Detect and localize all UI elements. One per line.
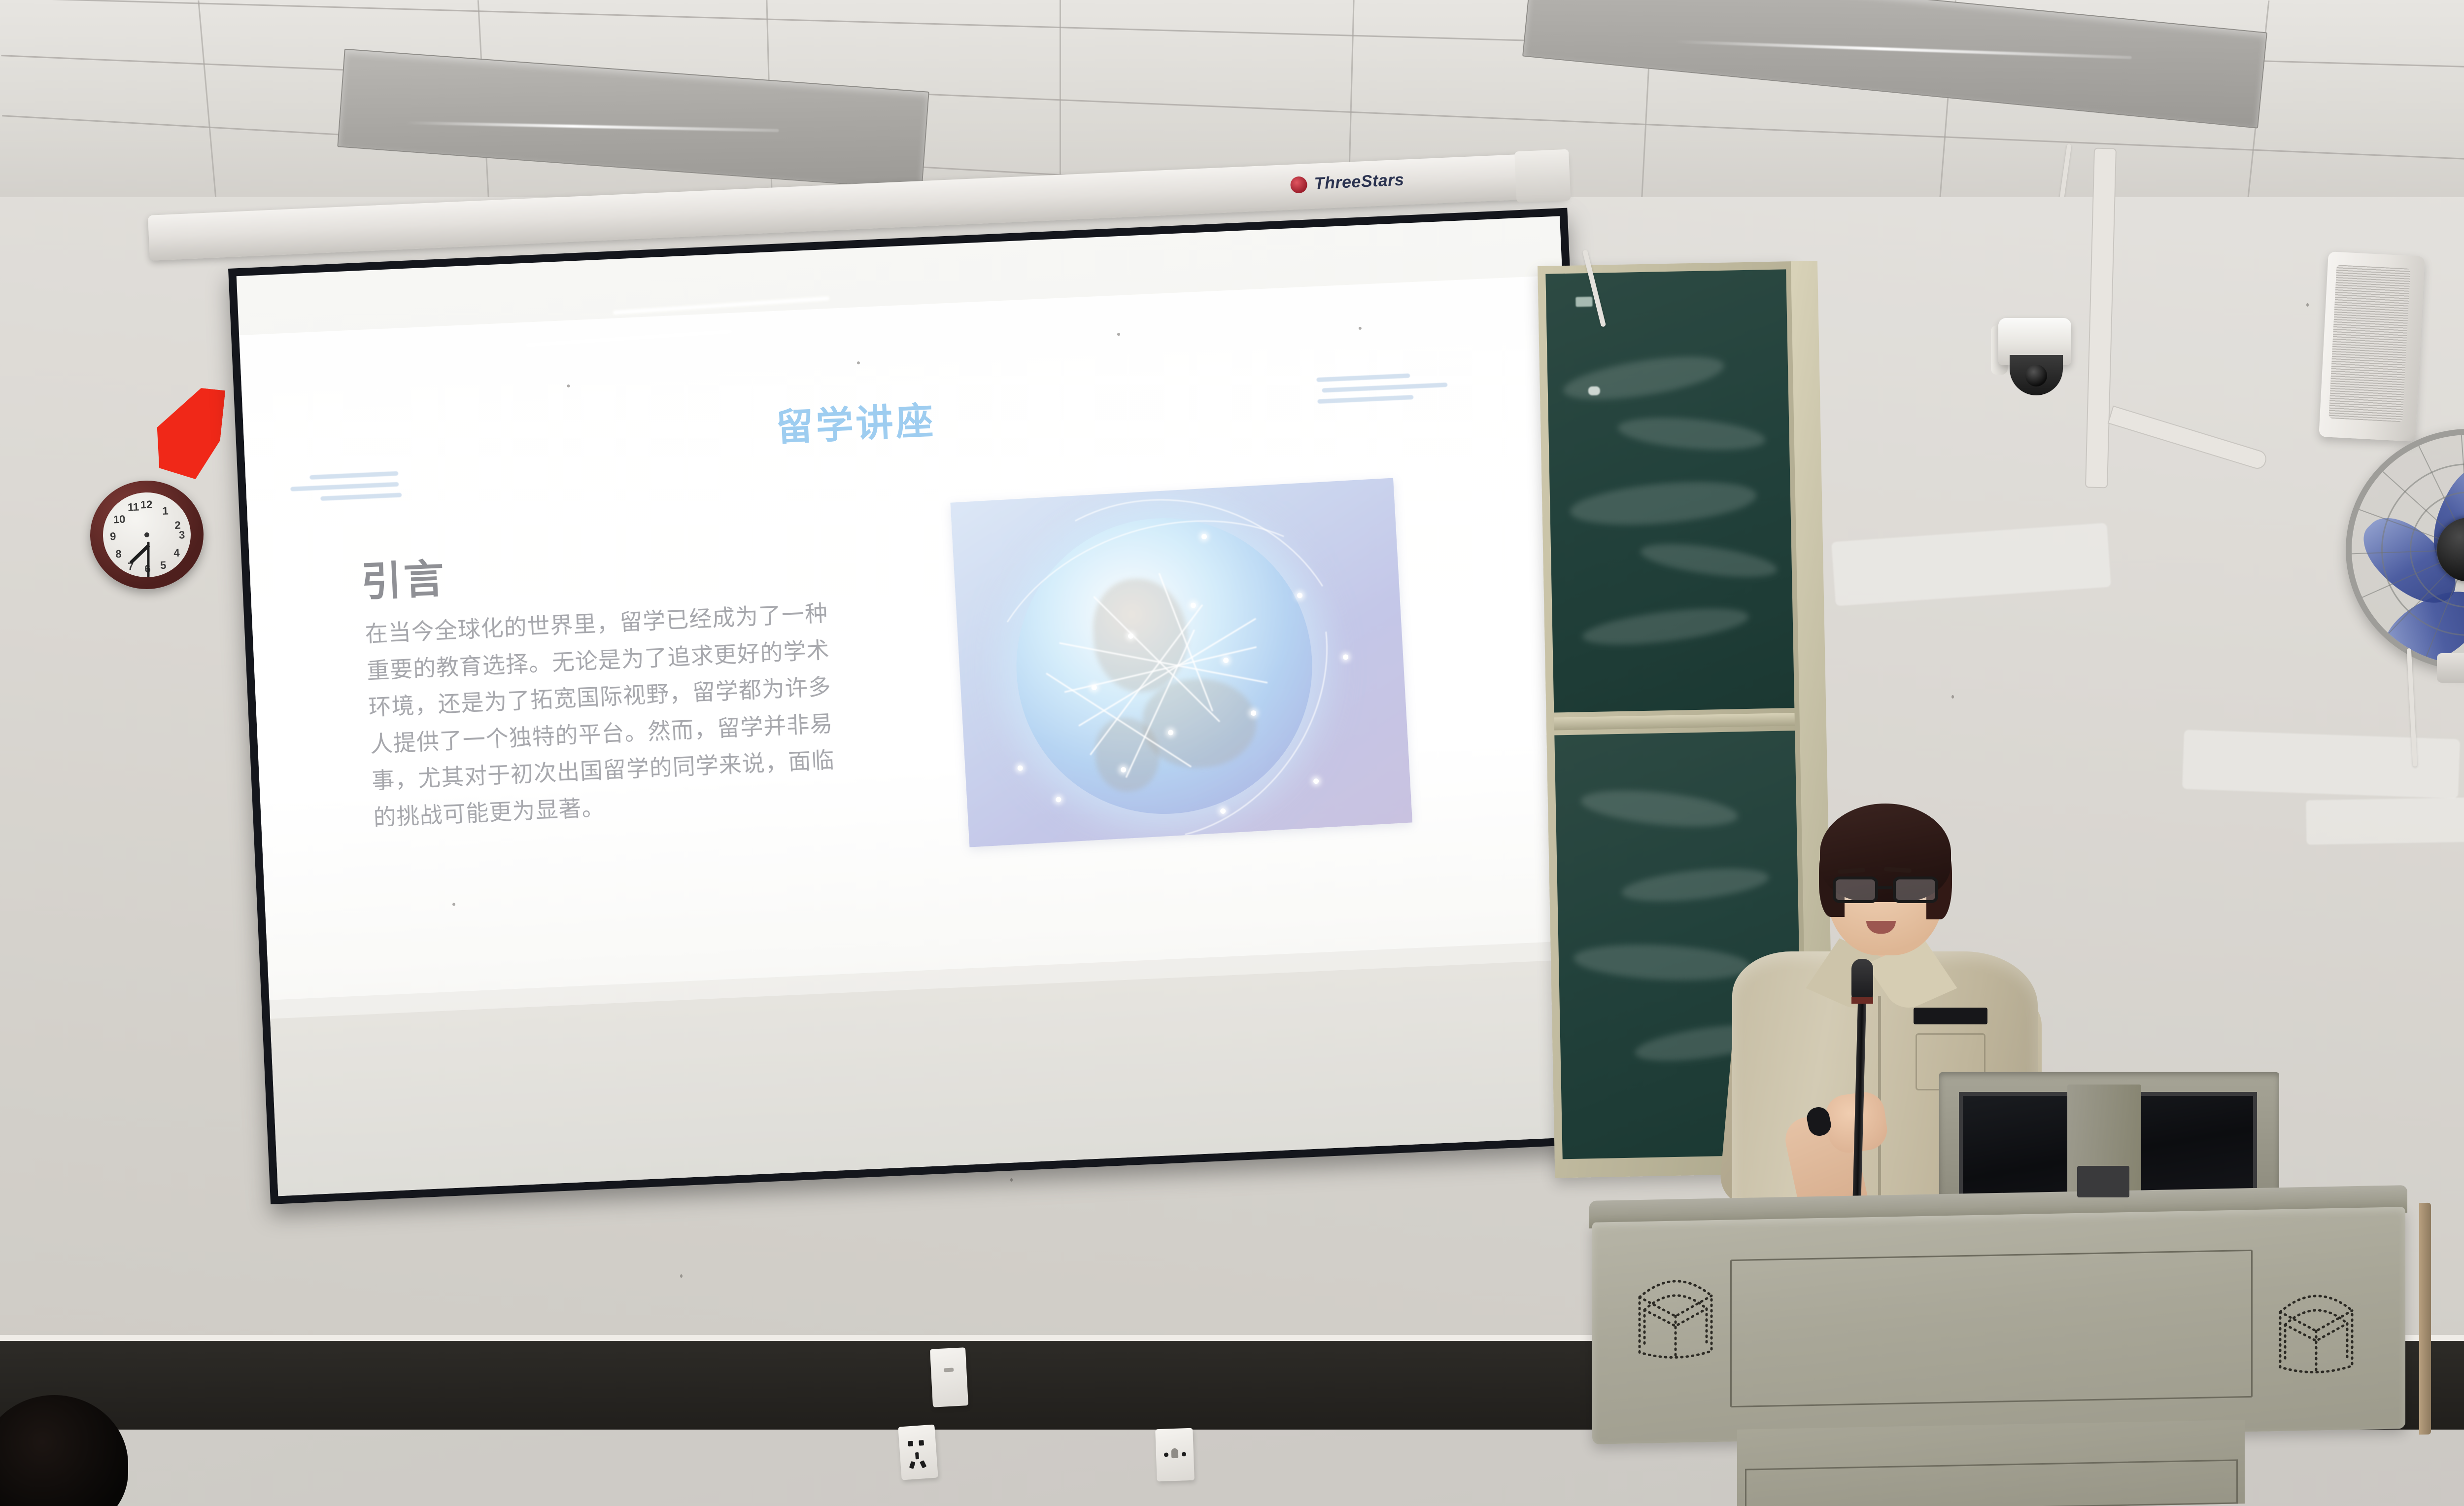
screen-housing-endcap xyxy=(1514,149,1571,203)
slide-heading: 引言 xyxy=(360,546,447,608)
clock-number-4: 4 xyxy=(173,547,180,560)
wall-conduit-vertical xyxy=(2085,148,2117,489)
clock-face: 12 1 2 3 4 5 6 7 8 9 10 11 xyxy=(102,491,192,579)
fan-cage xyxy=(2346,429,2464,670)
deco-line-1 xyxy=(1316,373,1410,382)
wall-fan-icon[interactable] xyxy=(2346,429,2464,675)
light-fixture-right xyxy=(1522,0,2267,129)
podium-vent-left xyxy=(1634,1261,1717,1361)
deco-line-3 xyxy=(320,493,402,501)
podium-vent-right xyxy=(2274,1276,2358,1376)
deco-line-3 xyxy=(1317,395,1413,404)
podium xyxy=(1589,1193,2427,1506)
blackboard-upper-panel xyxy=(1545,269,1794,712)
clock-number-10: 10 xyxy=(113,513,125,526)
clock-number-3: 3 xyxy=(179,528,185,541)
projection-surface: 留学讲座 引言 在当今全球化的世界里，留学已经成为了一种重要的教育选择。无论是为… xyxy=(237,216,1602,1196)
slide-decoration-top-right xyxy=(1316,372,1448,410)
screen-brand: ThreeStars xyxy=(1290,171,1404,195)
threestars-logo-icon xyxy=(1290,176,1307,193)
clock-number-12: 12 xyxy=(140,498,152,512)
slide: 留学讲座 引言 在当今全球化的世界里，留学已经成为了一种重要的教育选择。无论是为… xyxy=(256,316,1555,1019)
light-switch[interactable] xyxy=(930,1347,968,1407)
clock-minute-hand xyxy=(147,541,149,577)
light-fixture-left xyxy=(337,49,929,190)
slide-figure-globe-network xyxy=(950,478,1412,847)
blackboard-chalk-rail xyxy=(1554,713,1795,730)
clock-number-11: 11 xyxy=(128,501,139,514)
speaker-grille xyxy=(2328,265,2410,422)
classroom-scene: 12 1 2 3 4 5 6 7 8 9 10 11 ThreeStars xyxy=(0,0,2464,1506)
monitor-mount-plate xyxy=(2077,1166,2129,1197)
slide-title: 留学讲座 xyxy=(775,390,937,452)
wall-speaker-icon xyxy=(2319,251,2425,442)
projection-screen[interactable]: 留学讲座 引言 在当今全球化的世界里，留学已经成为了一种重要的教育选择。无论是为… xyxy=(228,208,1609,1204)
deco-line-1 xyxy=(309,471,398,480)
slide-decoration-left xyxy=(290,471,402,509)
podium-side-edge xyxy=(2419,1203,2431,1435)
camera-lens-icon xyxy=(2025,365,2047,386)
glasses-icon xyxy=(1833,876,1938,904)
presenter-badge xyxy=(1914,1008,1987,1024)
clock-number-8: 8 xyxy=(115,548,122,560)
power-outlet-right[interactable] xyxy=(1155,1428,1195,1482)
podium-front-panel xyxy=(1730,1250,2253,1407)
slide-body-text: 在当今全球化的世界里，留学已经成为了一种重要的教育选择。无论是为了追求更好的学术… xyxy=(364,595,847,836)
clock-number-5: 5 xyxy=(160,559,167,572)
fan-mount xyxy=(2437,653,2464,683)
clock-number-1: 1 xyxy=(162,504,169,517)
clock-center-pin xyxy=(144,532,149,537)
microphone-ring xyxy=(1851,997,1873,1004)
power-outlet-left[interactable] xyxy=(898,1425,938,1480)
clock-number-9: 9 xyxy=(110,530,116,543)
deco-line-2 xyxy=(1322,383,1447,393)
wall-conduit-horizontal xyxy=(2108,406,2269,471)
screen-brand-label: ThreeStars xyxy=(1314,171,1404,194)
deco-line-2 xyxy=(290,482,399,491)
